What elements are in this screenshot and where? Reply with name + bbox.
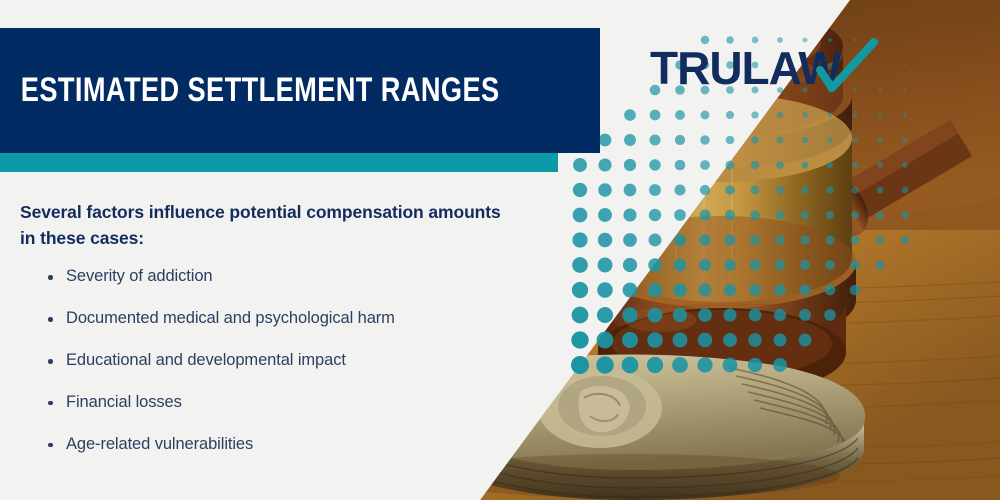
logo-wordmark: TRULAW: [650, 42, 842, 94]
body-copy: Several factors influence potential comp…: [20, 200, 520, 454]
page-title: ESTIMATED SETTLEMENT RANGES: [0, 73, 500, 109]
factor-list: Severity of addiction Documented medical…: [20, 267, 520, 454]
title-accent-bar: [0, 153, 558, 172]
list-item: Age-related vulnerabilities: [48, 435, 520, 455]
list-item: Educational and developmental impact: [48, 351, 520, 371]
list-item: Severity of addiction: [48, 267, 520, 287]
list-item: Financial losses: [48, 393, 520, 413]
trulaw-logo[interactable]: TRULAW: [650, 36, 880, 102]
lead-in-text: Several factors influence potential comp…: [20, 200, 520, 251]
title-banner: ESTIMATED SETTLEMENT RANGES: [0, 28, 600, 153]
infographic-canvas: ESTIMATED SETTLEMENT RANGES TRULAW Sever…: [0, 0, 1000, 500]
list-item: Documented medical and psychological har…: [48, 309, 520, 329]
